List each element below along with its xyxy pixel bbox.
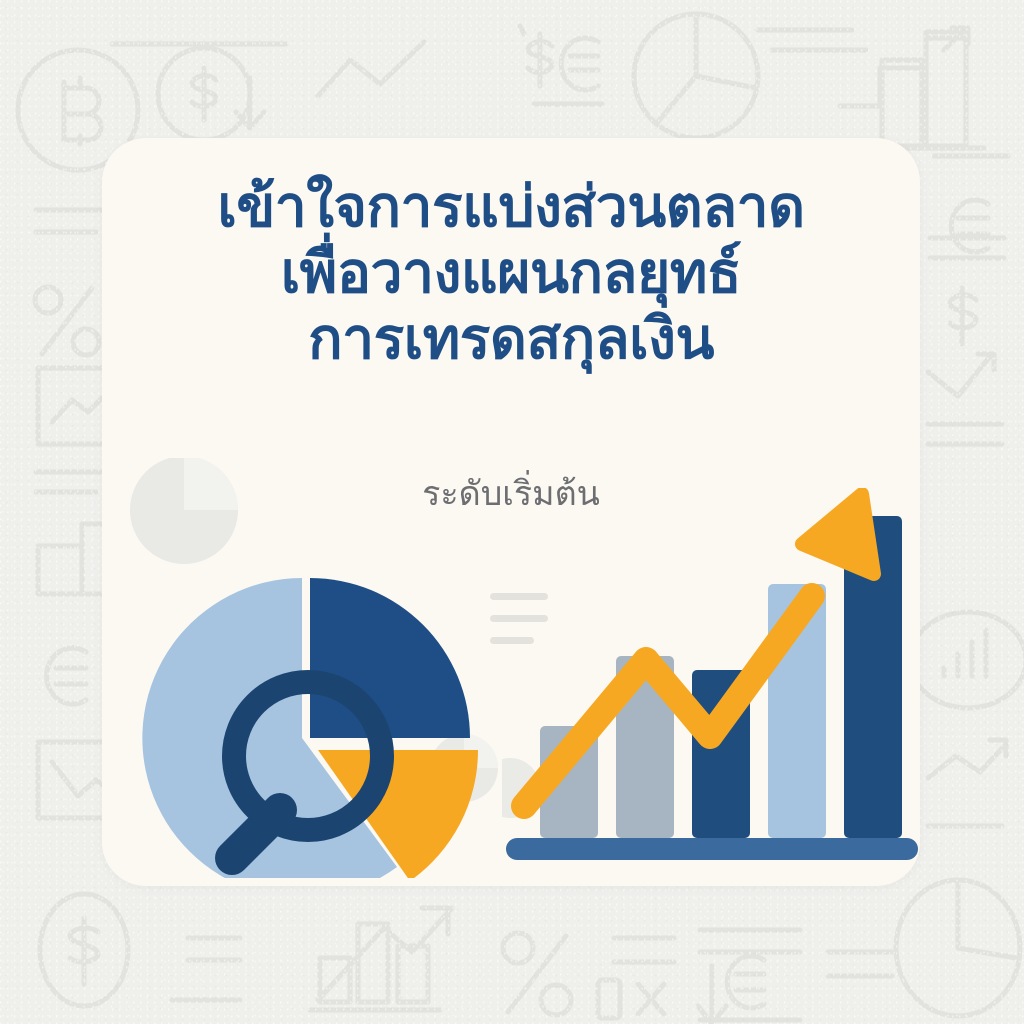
page-title: เข้าใจการแบ่งส่วนตลาด เพื่อวางแผนกลยุทธ์… xyxy=(102,174,920,372)
bar-chart-arrow-icon xyxy=(310,908,452,1010)
euro-sign-icon xyxy=(951,200,988,252)
mobile-x-icon xyxy=(598,980,664,1018)
chart-baseline xyxy=(506,838,918,860)
euro-down-arrow-icon xyxy=(698,956,800,1024)
text-lines-icon xyxy=(172,938,240,1000)
content-card: เข้าใจการแบ่งส่วนตลาด เพื่อวางแผนกลยุทธ์… xyxy=(102,138,920,886)
down-arrow-icon xyxy=(236,78,264,128)
pie-slice-dark-blue xyxy=(310,578,470,738)
text-lines-icon xyxy=(828,952,892,976)
dollar-sign-icon xyxy=(950,288,976,344)
percent-icon xyxy=(503,933,571,1015)
text-lines-icon xyxy=(36,210,110,232)
pie-chart-icon xyxy=(634,14,758,138)
watermark-pie-icon xyxy=(130,458,238,564)
euro-sign-icon xyxy=(47,648,86,704)
poster-root: เข้าใจการแบ่งส่วนตลาด เพื่อวางแผนกลยุทธ์… xyxy=(0,0,1024,1024)
trend-line-icon xyxy=(318,42,424,96)
bar-chart-circle-icon xyxy=(910,612,1024,708)
percent-icon xyxy=(35,287,99,355)
bar-chart-illustration xyxy=(502,488,920,878)
dollar-sign-icon xyxy=(520,26,552,86)
trend-line-icon xyxy=(928,354,994,396)
text-lines-icon xyxy=(614,930,800,962)
dollar-circle-icon xyxy=(158,48,250,140)
dollar-circle-icon xyxy=(40,894,128,1006)
trend-line-icon xyxy=(928,740,1006,778)
bar-chart-arrow-icon xyxy=(840,28,984,148)
text-lines-icon xyxy=(758,30,866,50)
euro-sign-icon xyxy=(561,38,598,90)
pie-chart-icon xyxy=(896,880,1020,1016)
pie-chart-illustration xyxy=(112,458,512,878)
text-lines-icon xyxy=(36,472,106,492)
text-lines-icon xyxy=(928,424,1002,444)
